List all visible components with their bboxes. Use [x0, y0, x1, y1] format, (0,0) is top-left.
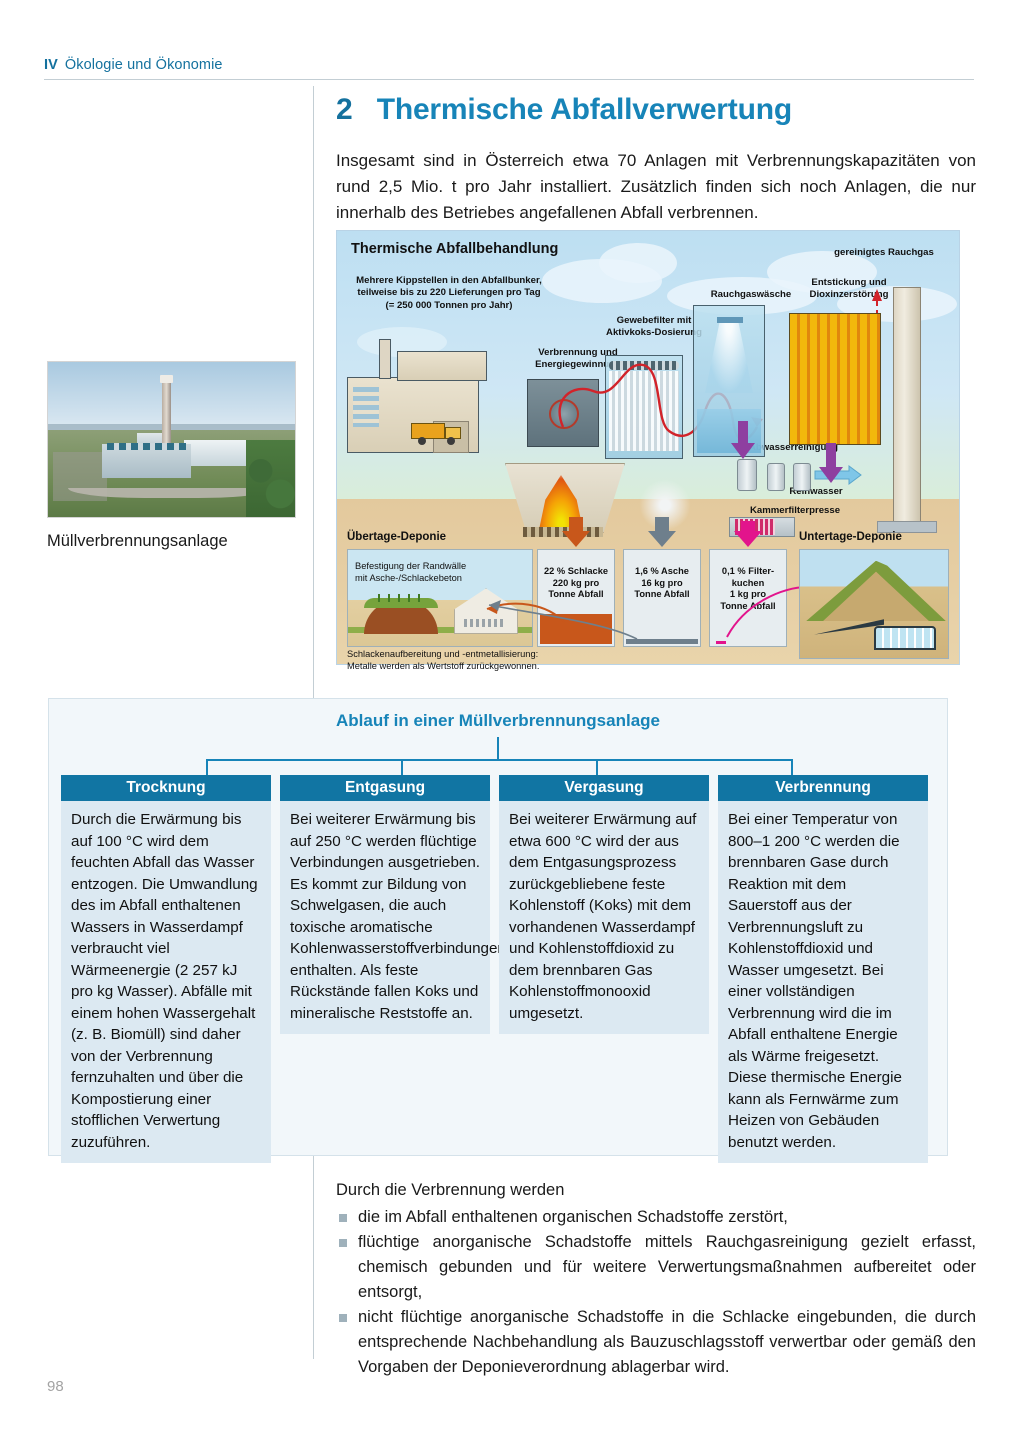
connector-drop-1 [206, 759, 208, 775]
infographic-thermal-waste-treatment: Thermische Abfallbehandlung Mehrere Kipp… [336, 230, 960, 665]
process-flow-panel: Ablauf in einer Müllverbrennungsanlage T… [48, 698, 948, 1156]
page-title: 2 Thermische Abfallverwertung [336, 93, 976, 127]
running-head: IVÖkologie und Ökonomie [44, 57, 223, 73]
bullet-square-icon [339, 1239, 347, 1247]
intro-paragraph: Insgesamt sind in Österreich etwa 70 Anl… [336, 148, 976, 226]
photo-building-right [184, 440, 248, 466]
photo-sky [48, 362, 295, 430]
photo-trees [246, 440, 295, 518]
list-item-text: flüchtige anorganische Schadstoffe mitte… [358, 1233, 976, 1301]
scene-underground-landfill [799, 549, 949, 659]
photo-chimney [162, 381, 171, 449]
summary-list: die im Abfall enthaltenen organischen Sc… [336, 1205, 976, 1380]
flow-header-vergasung: Vergasung [499, 775, 709, 801]
flow-column-vergasung: Vergasung Bei weiterer Erwärmung auf etw… [499, 775, 709, 1034]
summary-lead: Durch die Verbrennung werden [336, 1178, 976, 1203]
note-slag-processing: Schlackenaufbereitung und -entmetallisie… [347, 649, 677, 673]
bullet-square-icon [339, 1214, 347, 1222]
flow-body-vergasung: Bei weiterer Erwärmung auf etwa 600 °C w… [499, 801, 709, 1034]
bullet-square-icon [339, 1314, 347, 1322]
flow-body-verbrennung: Bei einer Temperatur von 800–1 200 °C we… [718, 801, 928, 1163]
flow-column-trocknung: Trocknung Durch die Erwärmung bis auf 10… [61, 775, 271, 1163]
flow-header-trocknung: Trocknung [61, 775, 271, 801]
connector-drop-4 [791, 759, 793, 775]
header-divider [44, 79, 974, 80]
underground-tunnel [874, 626, 936, 650]
summary-section: Durch die Verbrennung werden die im Abfa… [336, 1178, 976, 1380]
list-item: die im Abfall enthaltenen organischen Sc… [336, 1205, 976, 1230]
running-head-numeral: IV [44, 57, 58, 73]
connector-bus [206, 759, 793, 761]
connector-drop-2 [401, 759, 403, 775]
photo-incineration-plant [47, 361, 296, 518]
caption-underground-landfill: Untertage-Deponie [799, 531, 902, 543]
flow-header-entgasung: Entgasung [280, 775, 490, 801]
photo-caption: Müllverbrennungsanlage [47, 532, 296, 551]
connector-trunk [497, 737, 499, 761]
flow-body-trocknung: Durch die Erwärmung bis auf 100 °C wird … [61, 801, 271, 1163]
list-item-text: nicht flüchtige anorganische Schadstoffe… [358, 1308, 976, 1376]
flow-column-entgasung: Entgasung Bei weiterer Erwärmung bis auf… [280, 775, 490, 1034]
flow-header-verbrennung: Verbrennung [718, 775, 928, 801]
flow-column-verbrennung: Verbrennung Bei einer Temperatur von 800… [718, 775, 928, 1163]
connector-drop-3 [596, 759, 598, 775]
section-title: Thermische Abfallverwertung [377, 93, 792, 127]
list-item: nicht flüchtige anorganische Schadstoffe… [336, 1305, 976, 1380]
running-head-text: Ökologie und Ökonomie [65, 57, 223, 73]
figure-incineration-plant: Müllverbrennungsanlage [47, 361, 296, 551]
list-item: flüchtige anorganische Schadstoffe mitte… [336, 1230, 976, 1305]
list-item-text: die im Abfall enthaltenen organischen Sc… [358, 1208, 788, 1226]
page-number: 98 [47, 1378, 64, 1395]
flow-panel-title: Ablauf in einer Müllverbrennungsanlage [49, 711, 947, 731]
section-number: 2 [336, 93, 353, 127]
photo-roof-units [107, 443, 186, 451]
flow-body-entgasung: Bei weiterer Erwärmung bis auf 250 °C we… [280, 801, 490, 1034]
